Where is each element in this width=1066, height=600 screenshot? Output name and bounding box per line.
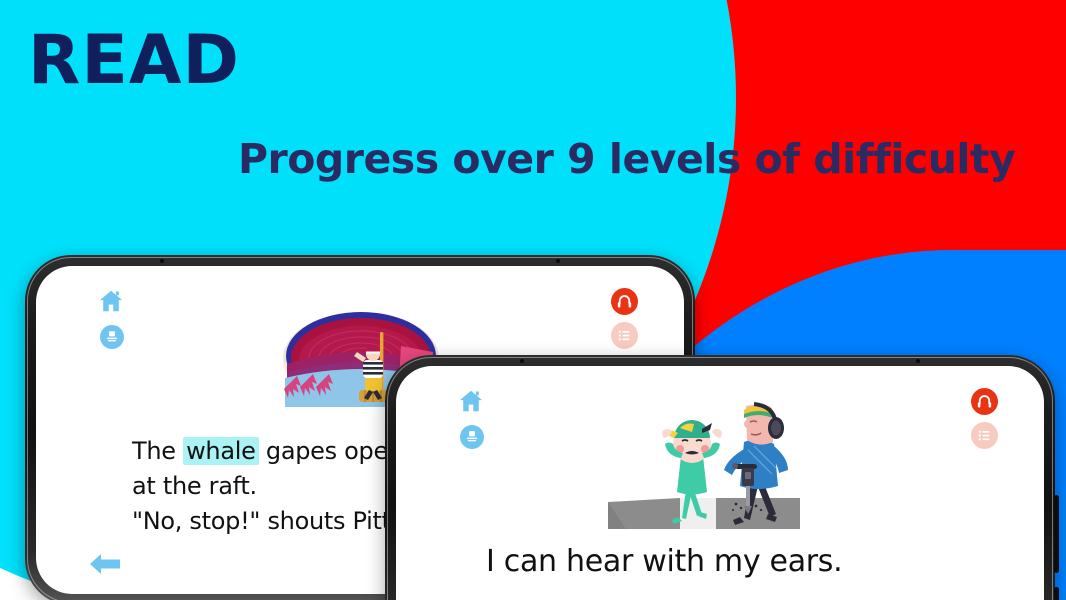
home-icon[interactable] xyxy=(458,388,484,414)
phone1-top-dot-right xyxy=(556,259,560,263)
phone2-top-dot-right xyxy=(916,359,920,363)
promo-screenshot: READ Progress over 9 levels of difficult… xyxy=(0,0,1066,600)
highlighted-word[interactable]: whale xyxy=(183,437,258,465)
phone2-volume-button[interactable] xyxy=(1054,495,1059,573)
story-illustration xyxy=(568,398,838,533)
tagline: Progress over 9 levels of difficulty xyxy=(238,135,1015,183)
phone-mockup-2: I can hear with my ears. xyxy=(385,355,1055,600)
back-arrow-icon[interactable] xyxy=(88,552,122,576)
headphones-icon[interactable] xyxy=(611,288,638,315)
sentence-text: I can hear with my ears. xyxy=(486,544,842,579)
phone1-top-dot-left xyxy=(160,259,164,263)
headphones-icon[interactable] xyxy=(971,388,998,415)
phone2-top-dot-left xyxy=(520,359,524,363)
home-icon[interactable] xyxy=(98,288,124,314)
app-logo-title: READ xyxy=(28,27,240,95)
bookmark-badge-icon[interactable] xyxy=(100,325,124,349)
list-icon[interactable] xyxy=(611,322,638,349)
phone2-power-button[interactable] xyxy=(1054,587,1059,600)
phone2-screen: I can hear with my ears. xyxy=(396,366,1044,600)
list-icon[interactable] xyxy=(971,422,998,449)
bookmark-badge-icon[interactable] xyxy=(460,425,484,449)
